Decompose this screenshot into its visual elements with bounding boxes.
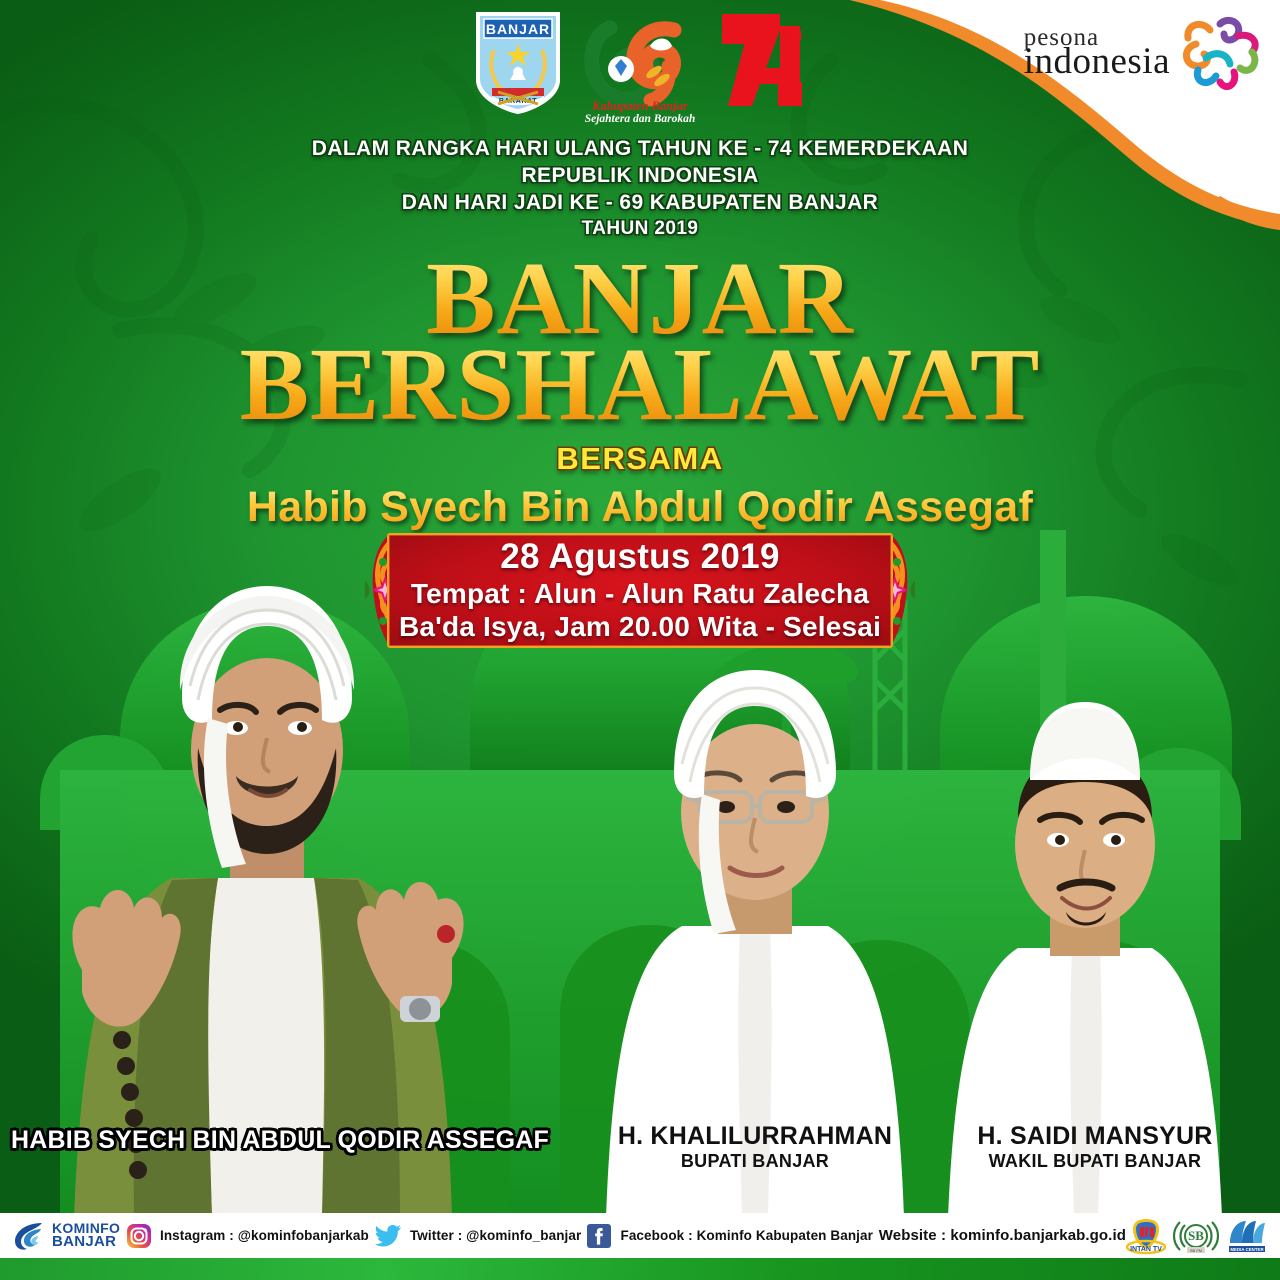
instagram-item[interactable]: Instagram : @kominfobanjarkab	[126, 1223, 369, 1249]
headline-line-4: TAHUN 2019	[0, 217, 1280, 241]
pesona-swirl-icon	[1176, 14, 1262, 92]
independence-74-logo: TH	[714, 6, 809, 121]
radio-sb-logo-icon: SB SB FM	[1173, 1217, 1219, 1255]
pesona-text-line2: indonesia	[1024, 45, 1170, 79]
event-place: Tempat : Alun - Alun Ratu Zalecha	[411, 577, 869, 611]
caption-wakil-name: H. SAIDI MANSYUR	[930, 1122, 1260, 1151]
svg-text:SB: SB	[1188, 1228, 1204, 1243]
twitter-item[interactable]: Twitter : @kominfo_banjar	[374, 1224, 581, 1248]
headline-line-2: REPUBLIK INDONESIA	[0, 163, 1280, 190]
header-logo-group: BANJAR BARAKAT	[470, 6, 809, 131]
caption-bupati-name: H. KHALILURRAHMAN	[560, 1122, 950, 1151]
instagram-label: Instagram : @kominfobanjarkab	[160, 1228, 369, 1243]
title-line-2: BERSHALAWAT	[0, 335, 1280, 435]
with-label: BERSAMA	[0, 441, 1280, 477]
guest-name: Habib Syech Bin Abdul Qodir Assegaf	[0, 483, 1280, 532]
event-date: 28 Agustus 2019	[500, 537, 779, 576]
twitter-label: Twitter : @kominfo_banjar	[410, 1228, 581, 1243]
kominfo-line2: BANJAR	[52, 1235, 120, 1249]
media-center-logo-icon: MEDIA CENTER	[1226, 1217, 1268, 1255]
kominfo-wave-icon	[12, 1220, 46, 1252]
instagram-icon	[126, 1223, 152, 1249]
kominfo-banjar-logo: KOMINFO BANJAR	[12, 1220, 120, 1252]
caption-habib: HABIB SYECH BIN ABDUL QODIR ASSEGAF	[10, 1126, 550, 1155]
caption-wakil: H. SAIDI MANSYUR WAKIL BUPATI BANJAR	[930, 1122, 1260, 1172]
svg-text:BANJAR: BANJAR	[486, 21, 550, 37]
headline-line-3: DAN HARI JADI KE - 69 KABUPATEN BANJAR	[0, 190, 1280, 217]
event-time: Ba'da Isya, Jam 20.00 Wita - Selesai	[399, 610, 881, 644]
twitter-icon	[374, 1224, 402, 1248]
footer-bar: KOMINFO BANJAR Instagram : @kominfobanja…	[0, 1213, 1280, 1258]
svg-text:INTAN TV: INTAN TV	[1130, 1246, 1162, 1253]
caption-habib-name: HABIB SYECH BIN ABDUL QODIR ASSEGAF	[10, 1126, 550, 1155]
poster-root: BANJAR BARAKAT	[0, 0, 1280, 1280]
caption-wakil-role: WAKIL BUPATI BANJAR	[930, 1151, 1260, 1173]
caption-bupati-role: BUPATI BANJAR	[560, 1151, 950, 1173]
headline-block: DALAM RANGKA HARI ULANG TAHUN KE - 74 KE…	[0, 136, 1280, 532]
svg-text:TH: TH	[785, 28, 802, 43]
intan-tv-logo-icon: INTAN TV	[1126, 1217, 1166, 1255]
pesona-indonesia-logo: pesona indonesia	[1024, 14, 1262, 92]
event-banner: 28 Agustus 2019 Tempat : Alun - Alun Rat…	[365, 529, 915, 652]
caption-bupati: H. KHALILURRAHMAN BUPATI BANJAR	[560, 1122, 950, 1172]
anniversary-69-logo: Kabupaten Banjar Sejahtera dan Barokah	[580, 6, 700, 131]
name-captions: HABIB SYECH BIN ABDUL QODIR ASSEGAF H. K…	[0, 1118, 1280, 1188]
website-label: Website : kominfo.banjarkab.go.id	[879, 1227, 1126, 1244]
svg-text:SB FM: SB FM	[1190, 1248, 1202, 1253]
headline-line-1: DALAM RANGKA HARI ULANG TAHUN KE - 74 KE…	[0, 136, 1280, 163]
facebook-label: Facebook : Kominfo Kabupaten Banjar	[620, 1228, 873, 1243]
banjar-crest-logo: BANJAR BARAKAT	[470, 6, 566, 123]
facebook-icon	[586, 1223, 612, 1249]
svg-text:MEDIA CENTER: MEDIA CENTER	[1230, 1247, 1264, 1252]
partner-logos: INTAN TV SB SB FM MEDIA CENTER	[1126, 1217, 1268, 1255]
bottom-green-strip	[0, 1258, 1280, 1280]
facebook-item[interactable]: Facebook : Kominfo Kabupaten Banjar	[586, 1223, 873, 1249]
website-item[interactable]: Website : kominfo.banjarkab.go.id	[879, 1227, 1126, 1244]
svg-text:Sejahtera dan Barokah: Sejahtera dan Barokah	[585, 113, 696, 125]
svg-text:Kabupaten Banjar: Kabupaten Banjar	[591, 99, 688, 113]
